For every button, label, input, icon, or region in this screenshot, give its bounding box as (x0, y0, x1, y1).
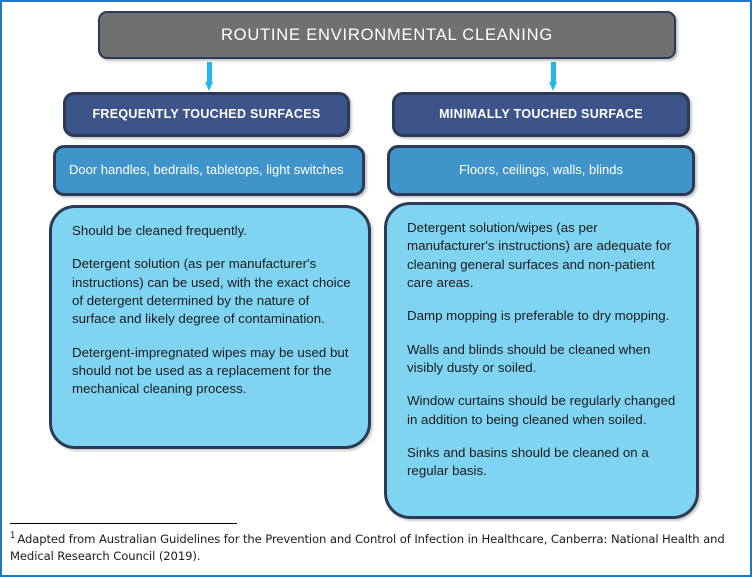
footnote-marker: 1 (10, 531, 15, 541)
connector-arrow-right (549, 62, 558, 91)
arrow-shaft (551, 62, 556, 83)
detail-paragraph: Sinks and basins should be cleaned on a … (407, 444, 680, 481)
examples-box-frequently-touched: Door handles, bedrails, tabletops, light… (53, 145, 365, 196)
detail-paragraph: Damp mopping is preferable to dry moppin… (407, 307, 680, 325)
detail-panel-frequently-touched: Should be cleaned frequently. Detergent … (49, 205, 371, 449)
category-header-minimally-touched: MINIMALLY TOUCHED SURFACE (392, 92, 690, 137)
detail-paragraph: Detergent solution (as per manufacturer'… (72, 255, 352, 328)
footnote-divider (10, 523, 237, 524)
detail-panel-content: Should be cleaned frequently. Detergent … (52, 208, 368, 409)
detail-panel-minimally-touched: Detergent solution/wipes (as per manufac… (384, 202, 699, 519)
detail-paragraph: Window curtains should be regularly chan… (407, 392, 680, 429)
detail-paragraph: Detergent-impregnated wipes may be used … (72, 344, 352, 399)
detail-paragraph: Should be cleaned frequently. (72, 222, 352, 240)
connector-arrow-left (205, 62, 214, 91)
arrow-head-icon (205, 82, 213, 91)
examples-text: Door handles, bedrails, tabletops, light… (69, 162, 344, 178)
category-header-label: FREQUENTLY TOUCHED SURFACES (92, 107, 320, 123)
footnote: 1Adapted from Australian Guidelines for … (10, 530, 734, 566)
category-header-frequently-touched: FREQUENTLY TOUCHED SURFACES (63, 92, 350, 137)
examples-text: Floors, ceilings, walls, blinds (459, 162, 623, 178)
examples-box-minimally-touched: Floors, ceilings, walls, blinds (387, 145, 695, 196)
diagram-title-text: ROUTINE ENVIRONMENTAL CLEANING (221, 25, 553, 46)
category-header-label: MINIMALLY TOUCHED SURFACE (439, 107, 643, 123)
footnote-text: Adapted from Australian Guidelines for t… (10, 532, 725, 563)
arrow-head-icon (549, 82, 557, 91)
diagram-canvas: ROUTINE ENVIRONMENTAL CLEANING FREQUENTL… (0, 0, 752, 577)
detail-paragraph: Walls and blinds should be cleaned when … (407, 341, 680, 378)
detail-panel-content: Detergent solution/wipes (as per manufac… (387, 205, 696, 491)
arrow-shaft (207, 62, 212, 83)
diagram-title-box: ROUTINE ENVIRONMENTAL CLEANING (98, 11, 676, 59)
detail-paragraph: Detergent solution/wipes (as per manufac… (407, 219, 680, 292)
